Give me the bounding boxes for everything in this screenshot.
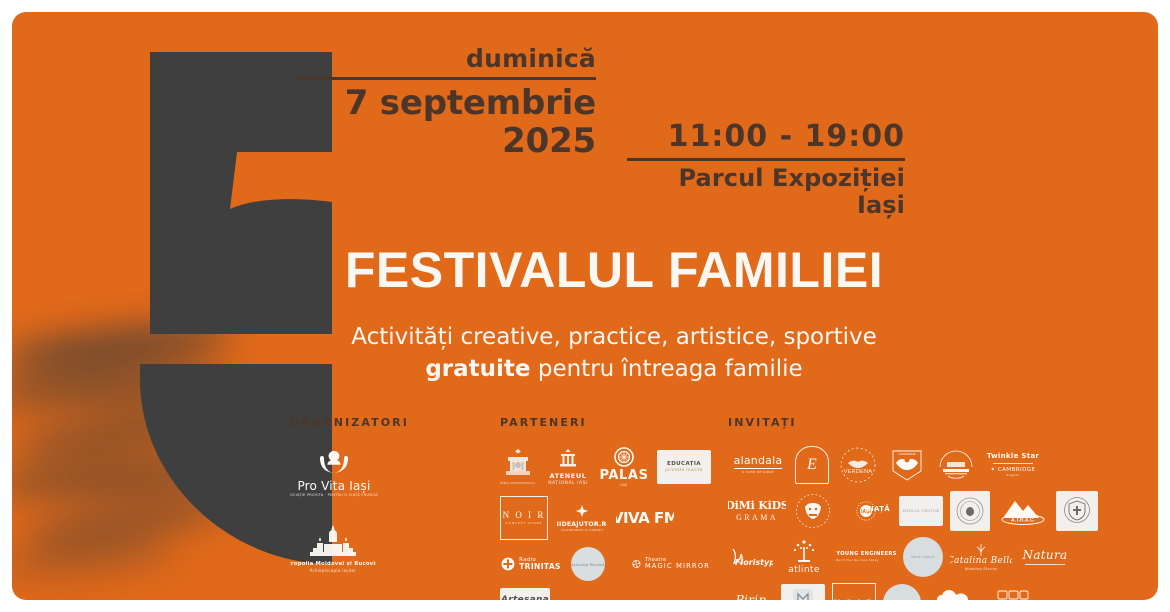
baby-in-hands-icon [317, 449, 351, 475]
opening-hours: 11:00 - 19:00 [627, 120, 905, 154]
logo-alandala: alandala o lume de joacă [728, 448, 788, 482]
logo-label-noir: N O I R [503, 511, 546, 521]
logo-sub-catalina: Wedding Stories [965, 568, 997, 572]
grid-badge-icon [996, 589, 1030, 600]
logo-shield-card [1056, 491, 1098, 531]
logo-label-catalina: Catalina Bella [950, 557, 1012, 567]
logo-dimikids-grama: DiMi KiDS GRAMA [728, 491, 786, 531]
logo-twinkle-star: Twinkle Star ✦ CAMBRIDGE English [985, 445, 1041, 485]
logo-ateneul-national: ATENEUL NAȚIONAL IAȘI [545, 445, 591, 489]
logo-catalina-bella: Catalina Bella Wedding Stories [950, 539, 1012, 575]
logo-label-artesana: Artesana [501, 596, 549, 600]
poster-canvas: duminică 7 septembrie 2025 11:00 - 19:00… [12, 12, 1158, 600]
organizatori-logo-grid: Pro Vita Iași ASOCIAȚIE PROVITA · PENTRU… [290, 445, 480, 577]
logo-floristyp: Floristyp [728, 540, 774, 574]
schedule-divider [627, 158, 905, 161]
logo-pro-vita-iasi: Pro Vita Iași ASOCIAȚIE PROVITA · PENTRU… [290, 445, 378, 501]
svg-text:Floristyp: Floristyp [735, 558, 773, 567]
ateneul-crest-icon [557, 448, 579, 470]
logo-noir-parteneri: N O I R CONCEPT STORE [500, 496, 548, 540]
blurred-smudge-decoration [12, 312, 332, 600]
section-organizatori: ORGANIZATORI Pro Vita Iași ASOCIAȚIE PRO… [290, 416, 480, 577]
metz-monogram-icon [792, 588, 814, 600]
page-subtitle: Activități creative, practice, artistice… [304, 322, 924, 385]
logo-sub-seal: Asociația Română [571, 563, 604, 567]
logo-pirip: Pirip & friends [728, 585, 774, 600]
subtitle-free-emphasis: gratuite [425, 356, 530, 382]
logo-verdena: VERDENA [836, 445, 880, 485]
logo-label-stiinte: atlinte [788, 566, 820, 576]
logo-sub-mitropolia: Arhiepiscopia Iașilor [310, 569, 357, 573]
mountain-badge-icon: A.T.R.A.C. [999, 496, 1047, 526]
logo-stiinte: atlinte [781, 537, 827, 577]
logo-grey-seal-card [950, 491, 990, 531]
logo-round-crest [793, 491, 833, 531]
shield-emblem-icon [1061, 495, 1093, 527]
logo-educatia: EDUCAȚIA privește înainte [657, 450, 711, 484]
logo-label-pirip: Pirip [736, 594, 767, 600]
arc-badge-icon [935, 447, 977, 483]
logo-sub-cambridge: English [1007, 474, 1020, 477]
logo-metz-care: METZ CARE COMPLETE [781, 584, 825, 600]
logo-atrac: A.T.R.A.C. [997, 494, 1049, 528]
logo-palas: PALAS IAȘI [600, 445, 648, 489]
logo-sub-young-engineers: Build Your Success Today [836, 559, 896, 562]
logo-fiideajutor: FIIDEAJUTOR.RO VOLUNTARIAT ȘI DONAȚII [557, 501, 607, 535]
date-value: 7 septembrie 2025 [296, 84, 596, 160]
section-label-organizatori: ORGANIZATORI [290, 416, 480, 429]
stiinte-tree-icon [789, 539, 819, 565]
logo-noir-invitati: N O I R [832, 583, 876, 600]
logo-label-pro-vita: Pro Vita Iași [297, 480, 370, 493]
cathedral-icon [306, 524, 360, 558]
logo-sub-educatia: privește înainte [665, 468, 703, 473]
section-invitati: INVITAȚI alandala o lume de joacă E VERD… [728, 416, 1098, 600]
svg-text:VERDENA: VERDENA [844, 469, 873, 475]
logo-label-trinitas: TRINITAS [519, 563, 561, 571]
wreath-badge-icon: HANDMADE [889, 447, 925, 483]
civic-crest-icon [505, 448, 531, 480]
subtitle-line-1: Activități creative, practice, artistice… [351, 324, 877, 350]
logo-label-monogram: E [807, 456, 817, 474]
round-crest-icon [795, 493, 831, 529]
logo-mitropolia-moldovei: Mitropolia Moldovei și Bucovinei Arhiepi… [290, 521, 376, 577]
underline-rule [734, 468, 782, 469]
logo-banner-card: BISERICA CREȘTINĂ [899, 496, 943, 526]
section-label-parteneri: PARTENERI [500, 416, 720, 429]
logo-iasi-viata: IAȘI VIAȚĂ [840, 496, 892, 526]
logo-sofia-studio: Sofia Studio [928, 584, 984, 600]
logo-label-fiideajutor: FIIDEAJUTOR.RO [557, 522, 607, 529]
logo-sub-noir: CONCEPT STORE [506, 522, 543, 525]
shutter-icon [632, 555, 641, 573]
schedule-block: 11:00 - 19:00 Parcul Expoziției Iași [627, 120, 905, 220]
date-divider [296, 77, 596, 80]
logo-viva-fm: VIVA FM [616, 501, 674, 535]
logo-grid-badge: EDUCAȚIE CU MĂSURĂ [991, 584, 1035, 600]
logo-label-palas: PALAS [600, 469, 648, 483]
logo-label-dimikids: DiMi KiDS [728, 500, 786, 512]
logo-sub-ateneul: NAȚIONAL IAȘI [548, 481, 588, 486]
venue-name: Parcul Expoziției Iași [627, 165, 905, 220]
logo-young-engineers: e YOUNG ENGINEERS Build Your Success Tod… [834, 540, 896, 574]
grey-seal-icon [955, 496, 985, 526]
script-underline [1025, 564, 1065, 565]
section-label-invitati: INVITAȚI [728, 416, 1098, 429]
logo-magic-mirror: Theatre MAGIC MIRROR [632, 549, 710, 579]
palas-rosette-icon [614, 447, 634, 467]
logo-sub-alandala: o lume de joacă [742, 471, 774, 475]
logo-label-noir-2: N O I R [834, 599, 874, 600]
logo-radio-trinitas: Radio TRINITAS [500, 547, 562, 581]
ornament-icon [974, 543, 988, 557]
logo-sub-banner: BISERICA CREȘTINĂ [903, 510, 940, 514]
logo-sub-note-circle: NOTE CIRCLE [911, 556, 934, 559]
logo-arc-badge [934, 445, 978, 485]
page-title: FESTIVALUL FAMILIEI [304, 244, 924, 297]
invitati-logo-grid: alandala o lume de joacă E VERDENA [728, 445, 1098, 600]
weekday-label: duminică [296, 46, 596, 72]
logo-label-vivafm: VIVA FM [616, 510, 674, 527]
parteneri-logo-grid: PRIMĂRIA MUNICIPIULUI IAȘI ATENEUL NAȚIO… [500, 445, 720, 600]
svg-text:A.T.R.A.C.: A.T.R.A.C. [1011, 518, 1036, 524]
verdena-round-icon: VERDENA [838, 446, 878, 484]
section-parteneri: PARTENERI PRIMĂRIA MUNICIPIULUI IAȘI [500, 416, 720, 600]
subtitle-line-2: pentru întreaga familie [531, 356, 803, 382]
logo-sub-pro-vita: ASOCIAȚIE PROVITA · PENTRU O VIAȚĂ FRUMO… [290, 494, 378, 498]
logo-label-young-engineers: YOUNG ENGINEERS [836, 552, 896, 558]
divider-rule [993, 463, 1033, 464]
logo-primaria-iasi: PRIMĂRIA MUNICIPIULUI IAȘI [500, 445, 536, 489]
logo-natura: Natura [1019, 539, 1071, 575]
logo-label-viata: VIAȚĂ [865, 506, 890, 514]
logo-arch-monogram: E [795, 446, 829, 484]
logo-artesana: Artesana Produse Traditionale [500, 588, 550, 600]
logo-sub-primaria: PRIMĂRIA MUNICIPIULUI IAȘI [500, 482, 536, 485]
logo-label-magic-mirror: MAGIC MIRROR [645, 563, 710, 570]
floristyp-icon: Floristyp [729, 543, 773, 571]
logo-round-seal-partener: Asociația Română [571, 547, 605, 581]
svg-text:HANDMADE: HANDMADE [898, 452, 915, 456]
logo-label-ateneul: ATENEUL [550, 473, 587, 480]
date-block: duminică 7 septembrie 2025 [296, 46, 596, 160]
logo-label-grama: GRAMA [736, 514, 778, 523]
logo-label-natura: Natura [1023, 549, 1068, 562]
logo-sub-fiideajutor: VOLUNTARIAT ȘI DONAȚII [561, 529, 603, 532]
cross-circle-icon [501, 557, 515, 571]
cloud-icon [936, 589, 976, 600]
logo-pale-circle: CIRCLE [883, 584, 921, 600]
logo-wreath-badge: HANDMADE [887, 445, 927, 485]
logo-note-circle: NOTE CIRCLE [903, 537, 943, 577]
logo-label-alandala: alandala [734, 455, 783, 467]
helping-cross-icon [574, 504, 590, 520]
logo-sub-palas: IAȘI [620, 484, 627, 488]
logo-label-twinkle: Twinkle Star [987, 453, 1039, 461]
